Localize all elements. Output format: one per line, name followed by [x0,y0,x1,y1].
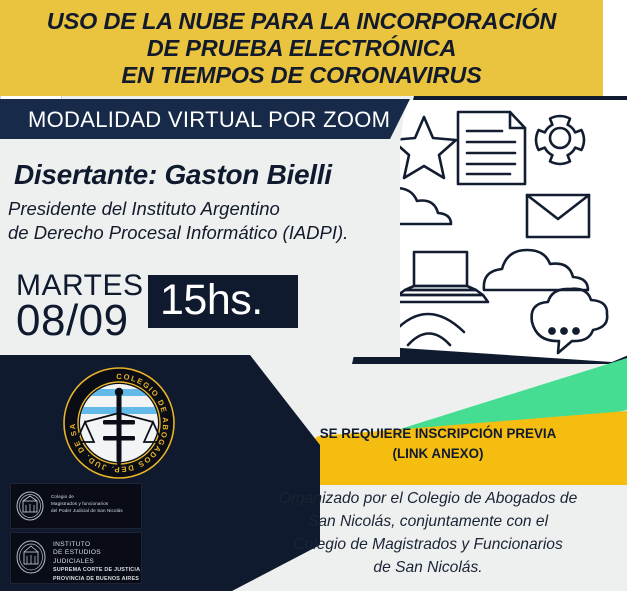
header-right-margin [603,0,627,96]
registration-line-2: (LINK ANEXO) [292,444,584,464]
logo-colegio-magistrados: Colegio de Magistrados y funcionarios de… [10,483,142,529]
organizers-line-4: de San Nicolás. [258,556,598,579]
logo-magistrados-line-2: Magistrados y funcionarios [51,500,123,507]
organizers-line-3: Colegio de Magistrados y Funcionarios [258,533,598,556]
logo-instituto-estudios: INSTITUTO DE ESTUDIOS JUDICIALES SUPREMA… [10,532,142,584]
laptop-icon [394,252,488,302]
logo-instituto-line-3: SUPREMA CORTE DE JUSTICIA [53,566,141,574]
logo-instituto-line-1: INSTITUTO [53,541,141,549]
speaker-title-line-2: de Derecho Procesal Informático (IADPI). [8,221,348,245]
event-flyer: USO DE LA NUBE PARA LA INCORPORACIÓN DE … [0,0,627,591]
organizers-line-1: Organizado por el Colegio de Abogados de [258,487,598,510]
speaker-name: Disertante: Gaston Bielli [14,159,332,191]
organizers-text: Organizado por el Colegio de Abogados de… [258,487,598,579]
logo-magistrados-text: Colegio de Magistrados y funcionarios de… [51,493,123,514]
event-title: USO DE LA NUBE PARA LA INCORPORACIÓN DE … [0,8,603,89]
title-line-2: DE PRUEBA ELECTRÓNICA [16,35,587,62]
document-icon [458,112,525,184]
date-number: 08/09 [16,301,143,341]
crest-icon [15,490,45,522]
gear-icon [536,116,584,164]
registration-line-1: SE REQUIERE INSCRIPCIÓN PREVIA [292,424,584,444]
speaker-title: Presidente del Instituto Argentino de De… [8,197,348,245]
title-line-3: EN TIEMPOS DE CORONAVIRUS [16,62,587,89]
star-icon [392,117,456,178]
event-date: MARTES 08/09 [16,272,143,341]
crest-icon [15,539,47,577]
registration-notice: SE REQUIERE INSCRIPCIÓN PREVIA (LINK ANE… [292,424,584,464]
logo-instituto-line-4: PROVINCIA DE BUENOS AIRES [53,575,141,583]
speech-bubble-icon [532,289,608,353]
colegio-abogados-seal: COLEGIO DE ABOGADOS DEP. JUD. DE SAN NIC… [60,364,178,482]
event-time-badge: 15hs. [148,275,298,328]
title-line-1: USO DE LA NUBE PARA LA INCORPORACIÓN [16,8,587,35]
speaker-panel: Disertante: Gaston Bielli Presidente del… [0,139,400,357]
logo-magistrados-line-1: Colegio de [51,493,123,500]
organizers-line-2: San Nicolás, conjuntamente con el [258,510,598,533]
event-time: 15hs. [160,276,263,325]
cloud-icon [484,250,588,290]
logo-magistrados-line-3: del Poder Judicial de San Nicolás [51,507,123,514]
icon-collage-panel [372,100,627,362]
header-banner: USO DE LA NUBE PARA LA INCORPORACIÓN DE … [0,0,603,96]
logo-instituto-line-2: DE ESTUDIOS JUDICIALES [53,549,141,566]
logo-instituto-text: INSTITUTO DE ESTUDIOS JUDICIALES SUPREMA… [53,541,141,583]
modality-label: MODALIDAD VIRTUAL POR ZOOM [28,107,390,133]
modality-ribbon: MODALIDAD VIRTUAL POR ZOOM [0,99,410,139]
speaker-title-line-1: Presidente del Instituto Argentino [8,197,348,221]
envelope-icon [527,195,589,237]
